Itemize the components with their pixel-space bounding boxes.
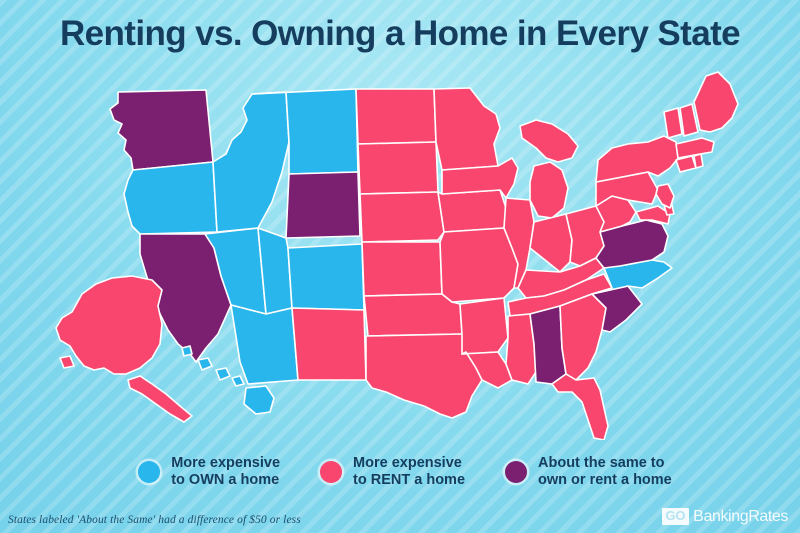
state-AR[interactable] [460,298,508,354]
legend-label-own: More expensive to OWN a home [171,455,280,489]
state-GA[interactable] [560,294,606,380]
map-svg [0,62,800,440]
state-OK[interactable] [364,294,462,336]
legend-item-rent[interactable]: More expensive to RENT a home [320,455,465,489]
state-SD[interactable] [358,142,438,194]
state-WY[interactable] [286,172,360,238]
state-OR[interactable] [124,162,217,234]
state-ID[interactable] [213,92,289,232]
state-IA[interactable] [438,190,506,232]
legend-item-own[interactable]: More expensive to OWN a home [138,455,280,489]
state-NJ[interactable] [656,184,674,208]
infographic-canvas: Renting vs. Owning a Home in Every State [0,0,800,533]
page-title: Renting vs. Owning a Home in Every State [60,14,740,54]
state-ND[interactable] [356,89,436,144]
state-CO[interactable] [288,244,364,310]
state-NM[interactable] [292,308,366,380]
legend: More expensive to OWN a home More expens… [0,444,800,500]
legend-label-same: About the same to own or rent a home [538,455,672,489]
logo-go-mark: GO [662,508,690,525]
legend-item-same[interactable]: About the same to own or rent a home [505,455,672,489]
logo-wordmark: BankingRates [690,509,788,525]
footnote: States labeled 'About the Same' had a di… [8,514,301,526]
state-WA[interactable] [110,90,213,170]
state-MA[interactable] [676,138,714,158]
state-RI[interactable] [694,154,703,168]
state-FL[interactable] [552,374,608,440]
state-MO[interactable] [440,228,518,302]
state-VT[interactable] [664,108,682,138]
title-bar: Renting vs. Owning a Home in Every State [0,0,800,68]
state-NE[interactable] [360,192,444,242]
circle-swatch-icon-rent [320,461,342,483]
state-IN[interactable] [530,214,572,272]
brand-logo[interactable]: GO BankingRates [662,508,788,525]
state-shapes [56,72,738,440]
state-ME[interactable] [694,72,738,132]
circle-swatch-icon-own [138,461,160,483]
state-MN[interactable] [434,88,500,170]
circle-swatch-icon-same [505,461,527,483]
us-choropleth-map [0,62,800,440]
state-AZ[interactable] [231,305,298,384]
state-KS[interactable] [362,242,442,296]
legend-label-rent: More expensive to RENT a home [353,455,465,489]
